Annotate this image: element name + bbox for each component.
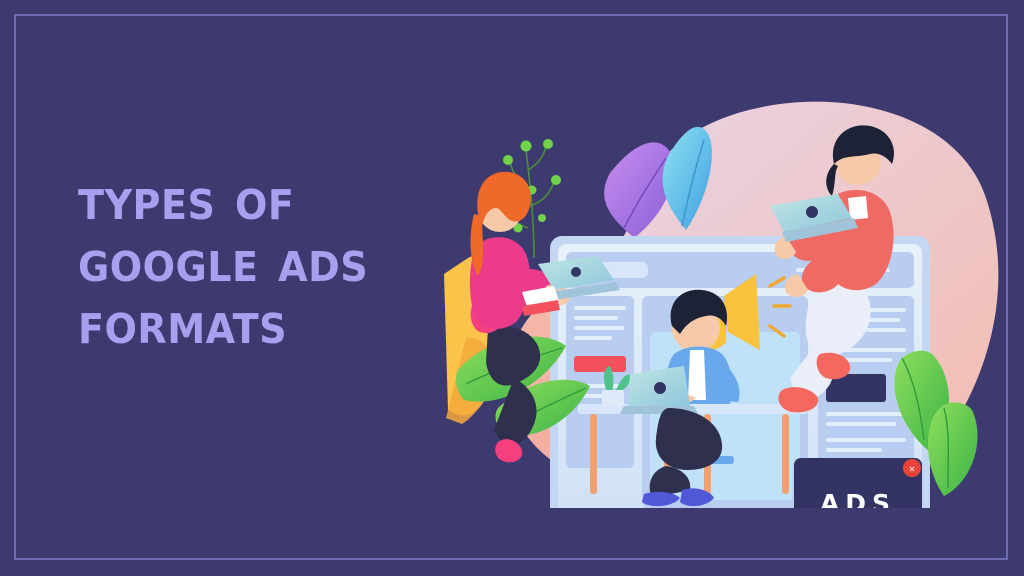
title-line-1: Types of [78,168,450,230]
hero-illustration: ADS [438,78,1008,508]
ads-card: ADS ✕ [792,458,924,508]
sidebar-cta-button [574,356,626,372]
banner-canvas: Types of Google Ads Formats [0,0,1024,576]
ads-card-label: ADS [820,489,896,508]
page-title: Types of Google Ads Formats [78,168,478,354]
title-line-3: Formats [78,292,450,354]
close-glyph: ✕ [909,465,916,474]
title-line-2: Google Ads [78,230,450,292]
